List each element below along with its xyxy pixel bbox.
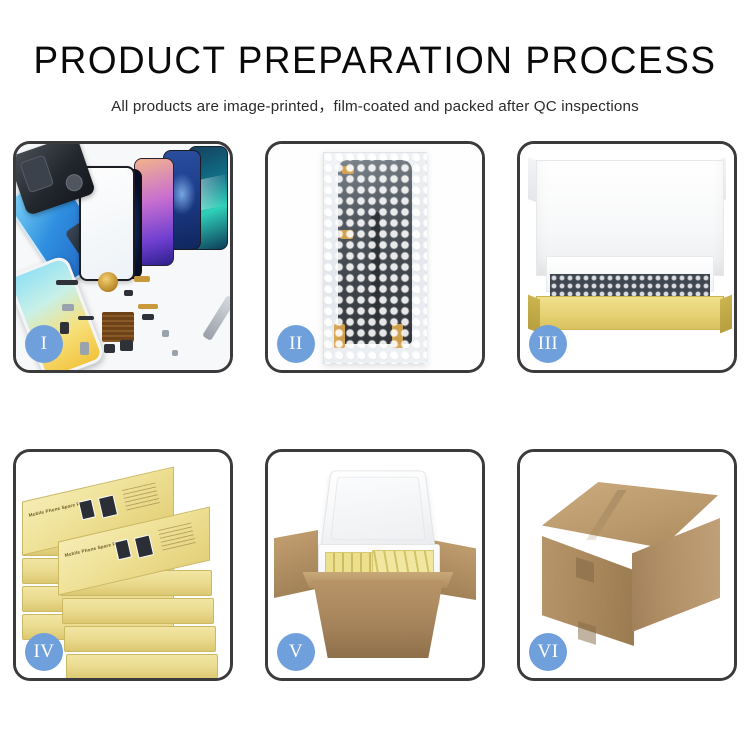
gold-connector-icon (134, 276, 150, 282)
stacked-box (66, 654, 218, 678)
tape-piece-icon (334, 324, 345, 348)
page-title: PRODUCT PREPARATION PROCESS (11, 42, 739, 82)
product-preparation-process-infographic: PRODUCT PREPARATION PROCESS All products… (0, 0, 750, 750)
tape-piece-icon (340, 230, 353, 239)
foam-box-lid (320, 471, 435, 550)
screw-icon (162, 330, 169, 337)
process-steps-grid: I II III (13, 141, 737, 686)
step-badge-3: III (529, 325, 567, 363)
stacked-box (64, 626, 216, 652)
chip-icon (142, 314, 154, 320)
tape-piece-icon (342, 166, 354, 174)
step-badge-4: IV (25, 633, 63, 671)
gold-flex-icon (138, 304, 158, 309)
metal-bracket-icon (62, 304, 74, 311)
vibrator-icon (120, 340, 133, 351)
chip-icon (124, 290, 133, 296)
wrapped-phone-part (338, 160, 412, 344)
chip-icon (60, 322, 69, 334)
step-badge-1: I (25, 325, 63, 363)
chip-icon (56, 280, 78, 285)
step-badge-2: II (277, 325, 315, 363)
screw-icon (172, 350, 178, 356)
screwdriver-icon (202, 295, 230, 341)
header: PRODUCT PREPARATION PROCESS All products… (0, 0, 750, 116)
step-panel-2: II (265, 141, 485, 373)
tape-piece-icon (392, 324, 403, 348)
yellow-box-tray (536, 296, 724, 330)
step-panel-4: Mobile Phone Spare Parts Mobile Phone Sp… (13, 449, 233, 681)
speaker-module-icon (98, 272, 118, 292)
page-subtitle: All products are image-printed，film-coat… (0, 94, 750, 116)
carton-body (304, 580, 452, 658)
stacked-box (62, 598, 214, 624)
step-panel-5: V (265, 449, 485, 681)
step-panel-3: III (517, 141, 737, 373)
step-badge-5: V (277, 633, 315, 671)
step-panel-1: I (13, 141, 233, 373)
flex-cable-icon (78, 316, 94, 320)
step-panel-6: VI (517, 449, 737, 681)
circuit-board-icon (102, 312, 134, 342)
camera-module-icon (104, 344, 115, 353)
battery-connector-icon (80, 342, 89, 355)
step-badge-6: VI (529, 633, 567, 671)
